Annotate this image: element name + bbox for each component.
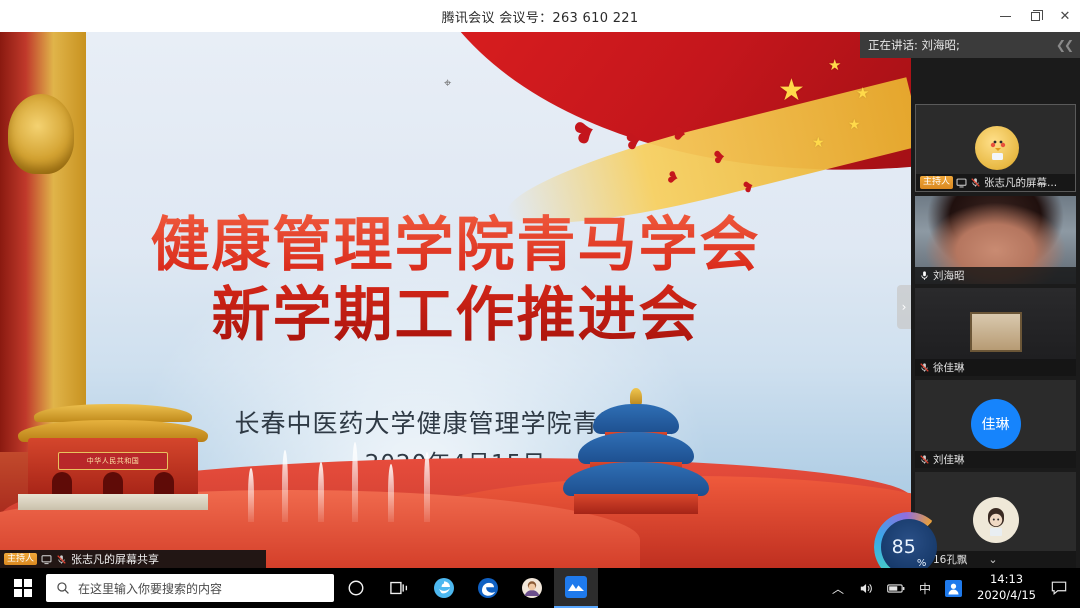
tencent-meeting-icon[interactable] — [554, 568, 598, 608]
start-button[interactable] — [0, 568, 46, 608]
meeting-content-area: ★ ★ ★ ★ ★ ❥ ❥ ❥ ❥ ❥ ❥ 健康管理学院青马学会 新学期工作推进… — [0, 32, 1080, 568]
search-icon — [56, 581, 70, 595]
avatar — [975, 126, 1019, 170]
screen-share-icon — [956, 177, 967, 188]
battery-icon[interactable] — [880, 582, 912, 595]
video-feed — [970, 312, 1022, 352]
mouse-cursor-icon: ⌖ — [444, 76, 456, 90]
avatar: 佳琳 — [971, 399, 1021, 449]
microphone-muted-icon — [919, 454, 930, 465]
screen-share-icon — [41, 554, 52, 565]
temple-of-heaven-illustration — [561, 390, 711, 522]
stone-lion-icon — [8, 94, 74, 174]
participant-name: 徐佳琳 — [933, 360, 965, 375]
show-hidden-icons-button[interactable]: ︿ — [825, 580, 851, 597]
gauge-value: 85% — [881, 519, 937, 575]
microphone-muted-icon — [56, 554, 67, 565]
clock-time: 14:13 — [977, 572, 1036, 588]
participant-tile[interactable]: 刘海昭 — [915, 196, 1076, 284]
slide-title-line2: 新学期工作推进会 — [0, 280, 911, 350]
tiananmen-gate-illustration: 中华人民共和国 — [18, 396, 208, 516]
user-account-icon[interactable] — [938, 580, 969, 597]
close-button[interactable]: ✕ — [1050, 0, 1080, 32]
participant-tile[interactable]: 徐佳琳 — [915, 288, 1076, 376]
people-avatar-icon[interactable] — [510, 568, 554, 608]
task-view-icon[interactable] — [378, 568, 422, 608]
cortana-icon[interactable] — [334, 568, 378, 608]
participant-name: 刘佳琳 — [933, 452, 965, 467]
gauge-percent: 85 — [892, 536, 916, 558]
active-speaker-label: 正在讲话: 刘海昭; — [868, 37, 960, 53]
chevron-left-icon[interactable]: ❮❮ — [1056, 38, 1072, 52]
avatar — [973, 497, 1019, 543]
internet-explorer-icon[interactable] — [422, 568, 466, 608]
participants-sidebar: 正在讲话: 刘海昭; ❮❮ 主持人 — [911, 32, 1080, 568]
host-badge: 主持人 — [4, 553, 37, 566]
temple-roof-mid — [578, 432, 694, 464]
window-title: 腾讯会议 会议号：263 610 221 — [442, 7, 639, 26]
participant-name: 张志凡的屏幕... — [984, 175, 1057, 190]
dove-icon: ❥ — [671, 123, 689, 146]
fountain-icon — [248, 468, 254, 522]
flag-star-icon: ★ — [812, 136, 825, 150]
dove-icon: ❥ — [711, 147, 727, 168]
taskbar-search-box[interactable]: 在这里输入你要搜索的内容 — [46, 574, 334, 602]
fountain-icon — [352, 442, 358, 522]
panel-collapse-button[interactable]: › — [897, 285, 911, 329]
fountain-icon — [424, 452, 430, 522]
active-speaker-bar: 正在讲话: 刘海昭; ❮❮ — [860, 32, 1080, 58]
photo-avatar-icon — [979, 503, 1013, 537]
edge-icon[interactable] — [466, 568, 510, 608]
search-placeholder: 在这里输入你要搜索的内容 — [78, 580, 222, 597]
microphone-muted-icon — [970, 177, 981, 188]
gate-plinth — [18, 494, 208, 510]
fountain-icon — [388, 464, 394, 522]
tile-label: 徐佳琳 — [915, 359, 1076, 376]
flag-star-icon: ★ — [828, 58, 841, 73]
slide-title-line1: 健康管理学院青马学会 — [150, 210, 760, 279]
flag-star-icon: ★ — [856, 86, 869, 101]
restore-button[interactable] — [1020, 0, 1050, 32]
volume-icon[interactable] — [851, 581, 880, 596]
fountain-icon — [282, 450, 288, 522]
windows-logo-icon — [14, 579, 32, 597]
tile-label: 主持人 张志凡的屏幕... — [916, 174, 1076, 191]
taskbar-clock[interactable]: 14:13 2020/4/15 — [969, 572, 1044, 603]
screen-share-status-bar: 主持人 张志凡的屏幕共享 — [0, 550, 266, 568]
system-tray: ︿ 中 14:13 2020/4/15 — [825, 568, 1080, 608]
action-center-icon[interactable] — [1044, 580, 1074, 596]
flag-star-icon: ★ — [848, 118, 861, 132]
chick-avatar-icon — [982, 133, 1012, 163]
slide-title: 健康管理学院青马学会 新学期工作推进会 — [0, 210, 911, 349]
gate-plaque: 中华人民共和国 — [58, 452, 168, 470]
screen-share-text: 张志凡的屏幕共享 — [71, 551, 159, 567]
shared-screen-slide: ★ ★ ★ ★ ★ ❥ ❥ ❥ ❥ ❥ ❥ 健康管理学院青马学会 新学期工作推进… — [0, 32, 911, 568]
ime-indicator[interactable]: 中 — [912, 580, 938, 597]
temple-roof-top — [593, 404, 679, 434]
temple-roof-base — [563, 462, 709, 496]
microphone-active-icon — [919, 270, 930, 281]
chevron-down-icon[interactable]: ⌄ — [988, 553, 997, 566]
window-controls: ✕ — [990, 0, 1080, 32]
host-badge: 主持人 — [920, 176, 953, 189]
microphone-muted-icon — [919, 362, 930, 373]
gate-arch — [154, 472, 174, 496]
participant-tile[interactable]: 佳琳 刘佳琳 — [915, 380, 1076, 468]
windows-taskbar: 在这里输入你要搜索的内容 — [0, 568, 1080, 608]
clock-date: 2020/4/15 — [977, 588, 1036, 604]
tile-label: 刘佳琳 — [915, 451, 1076, 468]
gate-arch — [52, 472, 72, 496]
window-title-bar: 腾讯会议 会议号：263 610 221 ✕ — [0, 0, 1080, 32]
fountain-icon — [318, 462, 324, 522]
temple-tier-base — [574, 494, 698, 514]
flag-star-icon: ★ — [778, 76, 805, 106]
tile-label: 刘海昭 — [915, 267, 1076, 284]
participant-name: 刘海昭 — [933, 268, 965, 283]
gate-arch — [103, 472, 123, 496]
participant-tile[interactable]: 主持人 张志凡的屏幕... — [915, 104, 1076, 192]
minimize-button[interactable] — [990, 0, 1020, 32]
